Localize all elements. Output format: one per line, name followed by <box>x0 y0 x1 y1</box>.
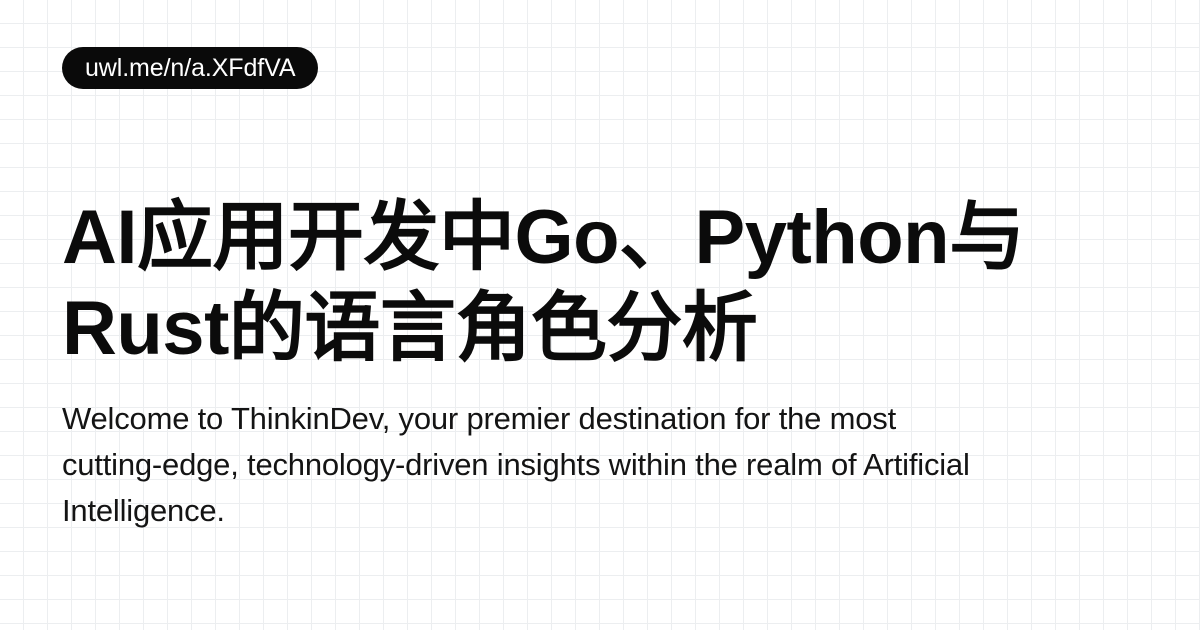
card-content: uwl.me/n/a.XFdfVA AI应用开发中Go、Python与Rust的… <box>0 0 1200 630</box>
page-description: Welcome to ThinkinDev, your premier dest… <box>62 396 997 534</box>
url-badge[interactable]: uwl.me/n/a.XFdfVA <box>62 47 318 89</box>
page-title: AI应用开发中Go、Python与Rust的语言角色分析 <box>62 192 1062 374</box>
share-preview-card: uwl.me/n/a.XFdfVA AI应用开发中Go、Python与Rust的… <box>0 0 1200 630</box>
